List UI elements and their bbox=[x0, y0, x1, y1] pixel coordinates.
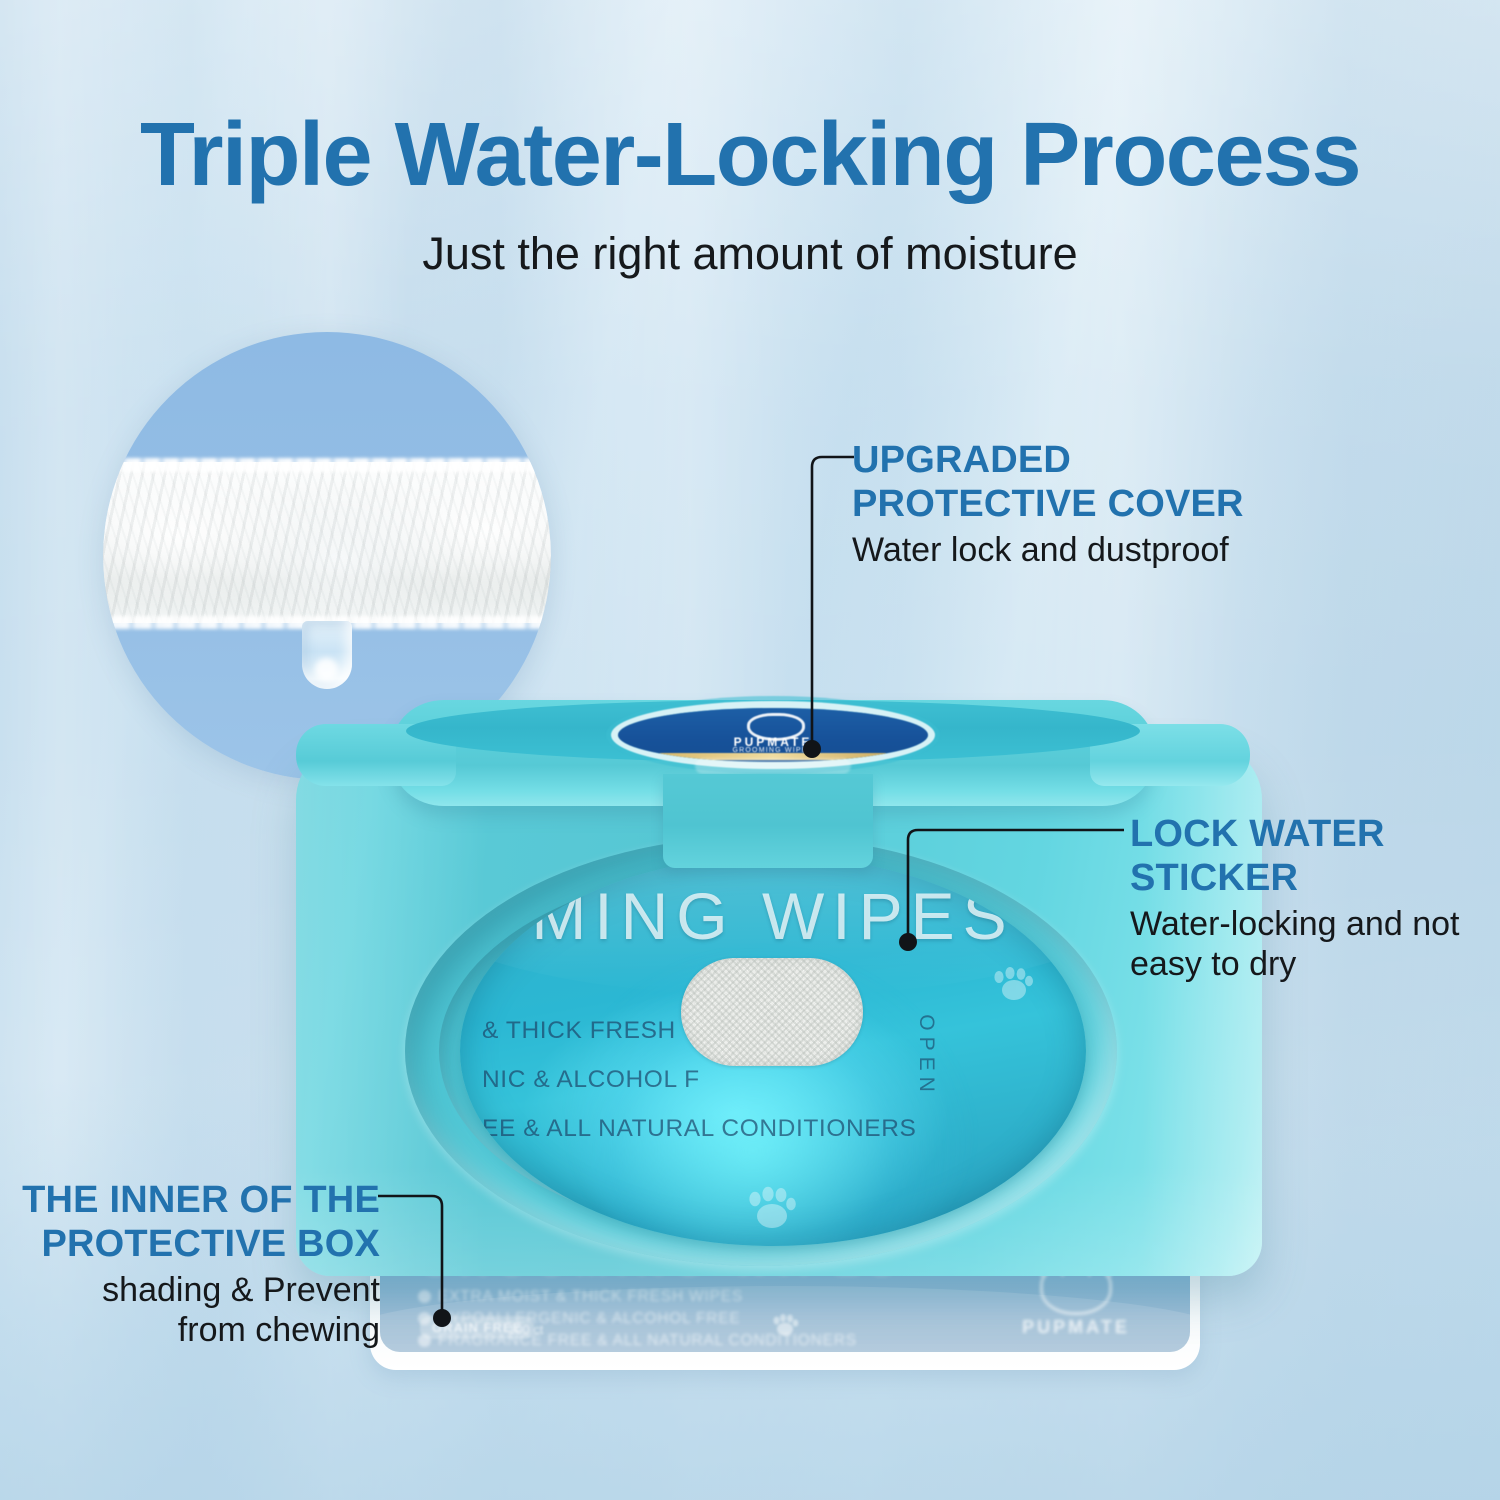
callout-upgraded-protective-cover: UPGRADED PROTECTIVE COVER Water lock and… bbox=[852, 438, 1282, 570]
callout-subtitle: Water-locking and not easy to dry bbox=[1130, 904, 1490, 984]
lid-pull-tab-highlight bbox=[695, 758, 851, 774]
sticker-title: MING WIPES bbox=[460, 878, 1086, 954]
callout-subtitle: Water lock and dustproof bbox=[852, 530, 1282, 570]
callout-lock-water-sticker: LOCK WATER STICKER Water-locking and not… bbox=[1130, 812, 1490, 984]
water-droplet-icon bbox=[302, 621, 352, 689]
wipe-fabric-band bbox=[103, 462, 551, 623]
carton-brand-name: PUPMATE bbox=[1006, 1317, 1146, 1338]
sticker-nature-label: NA bbox=[1032, 908, 1076, 939]
paw-print-icon bbox=[745, 1186, 799, 1230]
callout-title: UPGRADED PROTECTIVE COVER bbox=[852, 438, 1282, 526]
carton-bullet-1: EXTRA MOIST & THICK FRESH WIPES bbox=[438, 1288, 743, 1305]
lid-front-tab[interactable] bbox=[663, 774, 873, 868]
paw-print-icon bbox=[771, 1314, 799, 1336]
infographic-canvas: Triple Water-Locking Process Just the ri… bbox=[0, 0, 1500, 1500]
page-subtitle: Just the right amount of moisture bbox=[0, 228, 1500, 280]
visible-wipe-patch bbox=[681, 958, 863, 1066]
protective-cover-lid[interactable]: PUPMATE GROOMING WIPES bbox=[392, 700, 1154, 806]
callout-subtitle: shading & Prevent from chewing bbox=[0, 1270, 380, 1350]
sticker-open-label: OPEN bbox=[914, 1014, 938, 1098]
callout-inner-protective-box: THE INNER OF THE PROTECTIVE BOX shading … bbox=[0, 1178, 380, 1350]
paw-print-icon bbox=[990, 966, 1034, 1002]
lid-brand-sticker: PUPMATE GROOMING WIPES bbox=[618, 708, 928, 762]
callout-title: LOCK WATER STICKER bbox=[1130, 812, 1490, 900]
page-title: Triple Water-Locking Process bbox=[0, 108, 1500, 203]
carton-count: 100 ct bbox=[508, 1322, 543, 1337]
sticker-bullet-3: EE & ALL NATURAL CONDITIONERS bbox=[482, 1104, 916, 1153]
fabric-top-edge bbox=[103, 458, 551, 472]
callout-title: THE INNER OF THE PROTECTIVE BOX bbox=[0, 1178, 380, 1266]
bullet-dot-icon bbox=[418, 1290, 431, 1303]
